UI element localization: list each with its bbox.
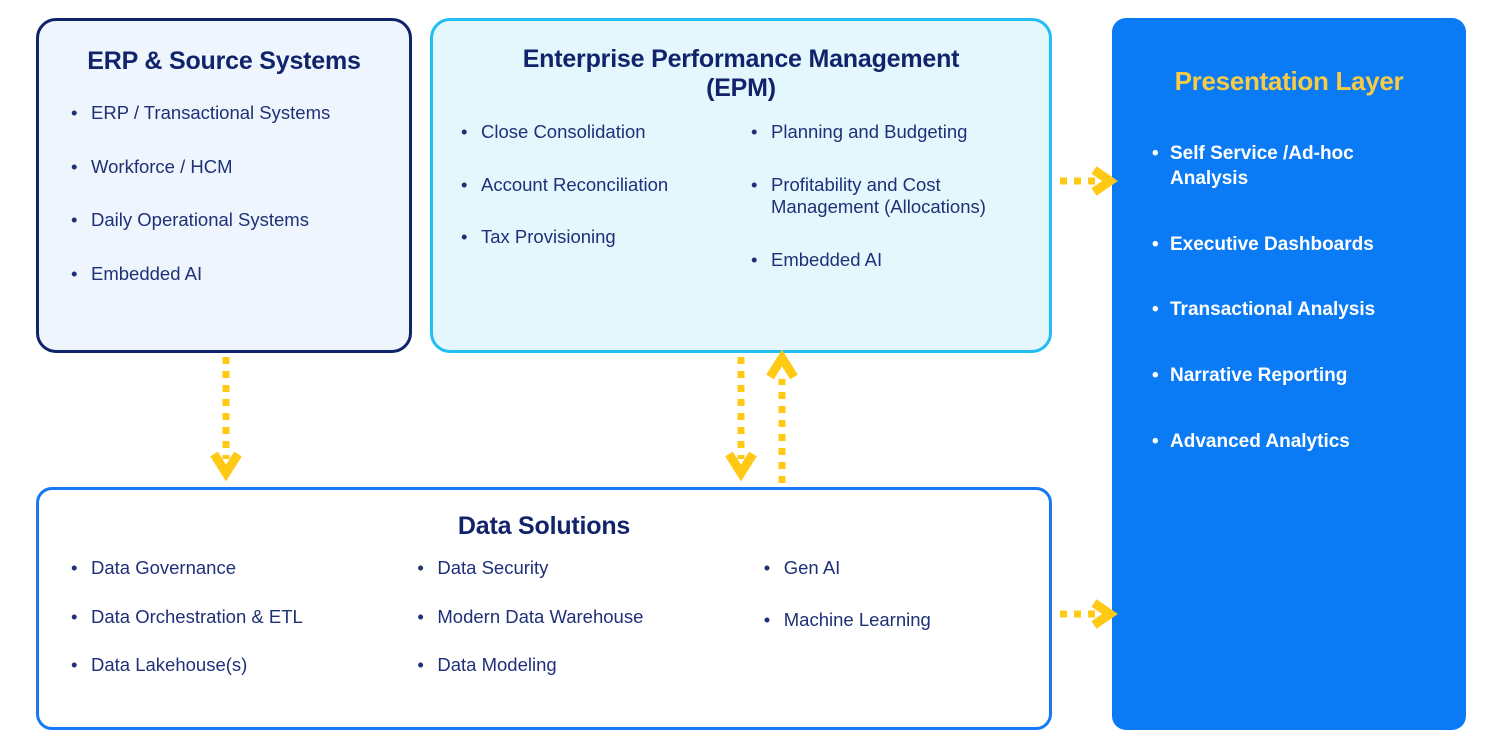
- epm-card-title: Enterprise Performance Management (EPM): [487, 45, 995, 103]
- list-item-label: Daily Operational Systems: [91, 209, 309, 230]
- list-item-label: Profitability and Cost Management (Alloc…: [771, 174, 986, 218]
- data-solutions-column-c: • Gen AI • Machine Learning: [732, 557, 1049, 703]
- bullet-dot-icon: •: [461, 226, 467, 249]
- data-solutions-column-b: • Data Security • Modern Data Warehouse …: [385, 557, 731, 703]
- epm-left-bullet-list: • Close Consolidation • Account Reconcil…: [455, 121, 723, 249]
- list-item: • Data Orchestration & ETL: [65, 606, 385, 629]
- list-item: • Data Lakehouse(s): [65, 654, 385, 677]
- list-item: • Transactional Analysis: [1146, 298, 1390, 323]
- data-solutions-card-title: Data Solutions: [39, 512, 1049, 541]
- bullet-dot-icon: •: [751, 174, 757, 197]
- list-item: • Account Reconciliation: [455, 174, 723, 197]
- list-item: • Close Consolidation: [455, 121, 723, 144]
- list-item: • Data Security: [411, 557, 731, 580]
- bullet-dot-icon: •: [71, 156, 77, 179]
- list-item-label: Data Orchestration & ETL: [91, 606, 303, 627]
- epm-column-right: • Planning and Budgeting • Profitability…: [723, 121, 1045, 301]
- bullet-dot-icon: •: [1152, 430, 1159, 455]
- list-item-label: Advanced Analytics: [1170, 431, 1350, 452]
- bullet-dot-icon: •: [461, 174, 467, 197]
- bullet-dot-icon: •: [1152, 142, 1159, 167]
- data-solutions-column-a: • Data Governance • Data Orchestration &…: [39, 557, 385, 703]
- list-item-label: Machine Learning: [784, 609, 931, 630]
- data-solutions-card: Data Solutions • Data Governance • Data …: [36, 487, 1052, 730]
- data-solutions-bullet-list-a: • Data Governance • Data Orchestration &…: [65, 557, 385, 677]
- bullet-dot-icon: •: [461, 121, 467, 144]
- bullet-dot-icon: •: [1152, 233, 1159, 258]
- arrow-data-solutions-to-epm: [767, 355, 797, 487]
- list-item-label: Executive Dashboards: [1170, 234, 1374, 255]
- list-item-label: Modern Data Warehouse: [437, 606, 643, 627]
- list-item-label: Narrative Reporting: [1170, 365, 1347, 386]
- presentation-layer-bullet-list: • Self Service /Ad-hoc Analysis • Execut…: [1112, 142, 1466, 454]
- list-item: • Data Modeling: [411, 654, 731, 677]
- list-item: • Machine Learning: [758, 609, 1049, 632]
- list-item: • Daily Operational Systems: [65, 209, 409, 232]
- list-item: • Embedded AI: [65, 263, 409, 286]
- list-item: • Embedded AI: [745, 249, 1045, 272]
- list-item: • Modern Data Warehouse: [411, 606, 731, 629]
- presentation-layer-title: Presentation Layer: [1112, 66, 1466, 96]
- bullet-dot-icon: •: [71, 263, 77, 286]
- list-item: • ERP / Transactional Systems: [65, 102, 409, 125]
- list-item-label: Planning and Budgeting: [771, 121, 967, 142]
- list-item-label: Data Governance: [91, 557, 236, 578]
- erp-card-title: ERP & Source Systems: [39, 47, 409, 76]
- arrow-epm-to-presentation-layer: [1058, 165, 1114, 197]
- bullet-dot-icon: •: [751, 249, 757, 272]
- list-item-label: Data Lakehouse(s): [91, 654, 247, 675]
- list-item-label: Tax Provisioning: [481, 226, 616, 247]
- bullet-dot-icon: •: [764, 609, 770, 632]
- list-item: • Narrative Reporting: [1146, 364, 1390, 389]
- data-solutions-columns: • Data Governance • Data Orchestration &…: [39, 557, 1049, 703]
- bullet-dot-icon: •: [417, 654, 423, 677]
- erp-source-systems-card: ERP & Source Systems • ERP / Transaction…: [36, 18, 412, 353]
- bullet-dot-icon: •: [71, 209, 77, 232]
- presentation-layer-card: Presentation Layer • Self Service /Ad-ho…: [1112, 18, 1466, 730]
- arrow-data-solutions-to-presentation-layer: [1058, 598, 1114, 630]
- bullet-dot-icon: •: [1152, 364, 1159, 389]
- bullet-dot-icon: •: [71, 557, 77, 580]
- epm-columns: • Close Consolidation • Account Reconcil…: [433, 121, 1049, 301]
- bullet-dot-icon: •: [417, 557, 423, 580]
- bullet-dot-icon: •: [71, 606, 77, 629]
- data-solutions-bullet-list-c: • Gen AI • Machine Learning: [758, 557, 1049, 631]
- list-item: • Tax Provisioning: [455, 226, 723, 249]
- list-item-label: Workforce / HCM: [91, 156, 233, 177]
- bullet-dot-icon: •: [764, 557, 770, 580]
- bullet-dot-icon: •: [1152, 298, 1159, 323]
- bullet-dot-icon: •: [751, 121, 757, 144]
- diagram-canvas: ERP & Source Systems • ERP / Transaction…: [0, 0, 1500, 750]
- enterprise-performance-management-card: Enterprise Performance Management (EPM) …: [430, 18, 1052, 353]
- epm-right-bullet-list: • Planning and Budgeting • Profitability…: [745, 121, 1045, 271]
- list-item: • Gen AI: [758, 557, 1049, 580]
- erp-bullet-list: • ERP / Transactional Systems • Workforc…: [39, 102, 409, 285]
- list-item-label: Embedded AI: [91, 263, 202, 284]
- list-item-label: Data Security: [437, 557, 548, 578]
- list-item: • Profitability and Cost Management (All…: [745, 174, 1045, 219]
- list-item-label: Self Service /Ad-hoc Analysis: [1170, 143, 1354, 189]
- list-item-label: Transactional Analysis: [1170, 299, 1375, 320]
- list-item: • Self Service /Ad-hoc Analysis: [1146, 142, 1390, 191]
- list-item-label: Close Consolidation: [481, 121, 646, 142]
- list-item: • Workforce / HCM: [65, 156, 409, 179]
- bullet-dot-icon: •: [71, 102, 77, 125]
- arrow-epm-to-data-solutions: [726, 355, 756, 487]
- list-item: • Planning and Budgeting: [745, 121, 1045, 144]
- data-solutions-bullet-list-b: • Data Security • Modern Data Warehouse …: [411, 557, 731, 677]
- list-item-label: Account Reconciliation: [481, 174, 668, 195]
- epm-column-left: • Close Consolidation • Account Reconcil…: [433, 121, 723, 301]
- list-item: • Advanced Analytics: [1146, 430, 1390, 455]
- list-item-label: Gen AI: [784, 557, 841, 578]
- list-item-label: Data Modeling: [437, 654, 556, 675]
- list-item-label: Embedded AI: [771, 249, 882, 270]
- arrow-erp-to-data-solutions: [211, 355, 241, 487]
- list-item-label: ERP / Transactional Systems: [91, 102, 330, 123]
- list-item: • Executive Dashboards: [1146, 233, 1390, 258]
- bullet-dot-icon: •: [417, 606, 423, 629]
- bullet-dot-icon: •: [71, 654, 77, 677]
- list-item: • Data Governance: [65, 557, 385, 580]
